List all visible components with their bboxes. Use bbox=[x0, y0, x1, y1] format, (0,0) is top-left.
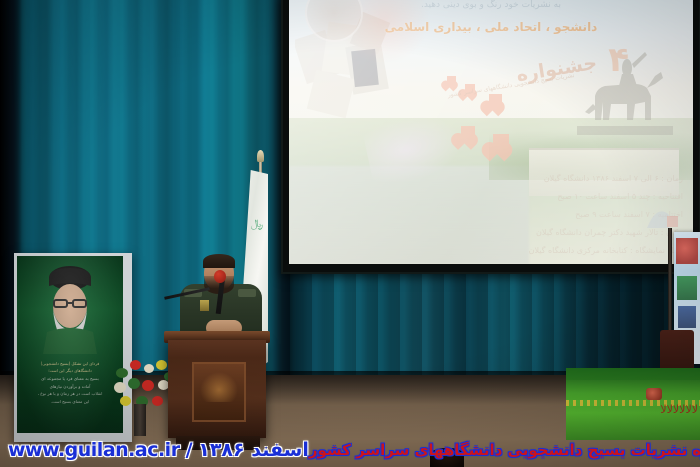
slide-info-line-5: محل نمایشگاه : کتابخانه مرکزی دانشگاه گی… bbox=[383, 246, 683, 255]
projection-screen-frame: به نشریات خود رنگ و بوی دینی دهید. دانشج… bbox=[281, 0, 700, 274]
slide-heart-icon bbox=[493, 134, 509, 150]
speaker-shoulder-insignia-right bbox=[238, 289, 256, 297]
photograph-stage-scene: به نشریات خود رنگ و بوی دینی دهید. دانشج… bbox=[0, 0, 700, 467]
foreground-audience-head bbox=[430, 448, 464, 467]
banner-graphic-3 bbox=[678, 306, 696, 328]
slide-headline-primary: دانشجو ، اتحاد ملی ، بیداری اسلامی bbox=[289, 20, 693, 34]
projected-slide: به نشریات خود رنگ و بوی دینی دهید. دانشج… bbox=[289, 0, 693, 264]
table-object bbox=[646, 388, 662, 400]
projection-screen-surface: به نشریات خود رنگ و بوی دینی دهید. دانشج… bbox=[289, 0, 693, 264]
poster-content: فردای این تشکل (بسیج دانشجویی) دانشگاهای… bbox=[17, 256, 123, 433]
slide-festival-number: ۴ bbox=[608, 40, 629, 80]
speaker-chest-badge bbox=[200, 300, 209, 311]
slide-info-line-4: مکان : تالار شهید دکتر چمران دانشگاه گیل… bbox=[383, 228, 683, 237]
speaking-podium bbox=[168, 340, 266, 438]
speaker-hair bbox=[203, 254, 235, 268]
banner-graphic-2 bbox=[677, 276, 697, 300]
table-cloth-calligraphy: ﻻﻻﻻﻻﻻﻻ bbox=[570, 404, 698, 438]
podium-base bbox=[176, 436, 260, 450]
poster-lighting-overlay bbox=[17, 256, 123, 433]
slide-info-line-1: زمان : ۶ الی ۷ اسفند ۱۳۸۶ دانشگاه گیلان bbox=[383, 174, 683, 183]
podium-carved-panel bbox=[192, 362, 246, 422]
slide-heart-icon bbox=[489, 94, 502, 107]
slide-heart-icon bbox=[461, 126, 475, 140]
slide-info-line-2: افتتاحیه : چند ۵ اسفند ساعت ۱۰ صبح bbox=[383, 192, 683, 201]
microphone-head-icon bbox=[214, 270, 226, 283]
slide-organization-logo bbox=[645, 204, 679, 234]
flag-finial bbox=[257, 150, 264, 162]
podium-carving-detail bbox=[200, 372, 238, 402]
banner-graphic-1 bbox=[676, 238, 698, 264]
flower-stand bbox=[134, 404, 146, 436]
slide-info-line-3: اختتامیه : ۷ اسفند ساعت ۹ صبح bbox=[383, 210, 683, 219]
slide-heart-icon bbox=[447, 76, 456, 85]
slide-bridge bbox=[529, 148, 679, 196]
speaker-person bbox=[178, 256, 264, 342]
slide-headline-secondary: به نشریات خود رنگ و بوی دینی دهید. bbox=[289, 0, 693, 10]
